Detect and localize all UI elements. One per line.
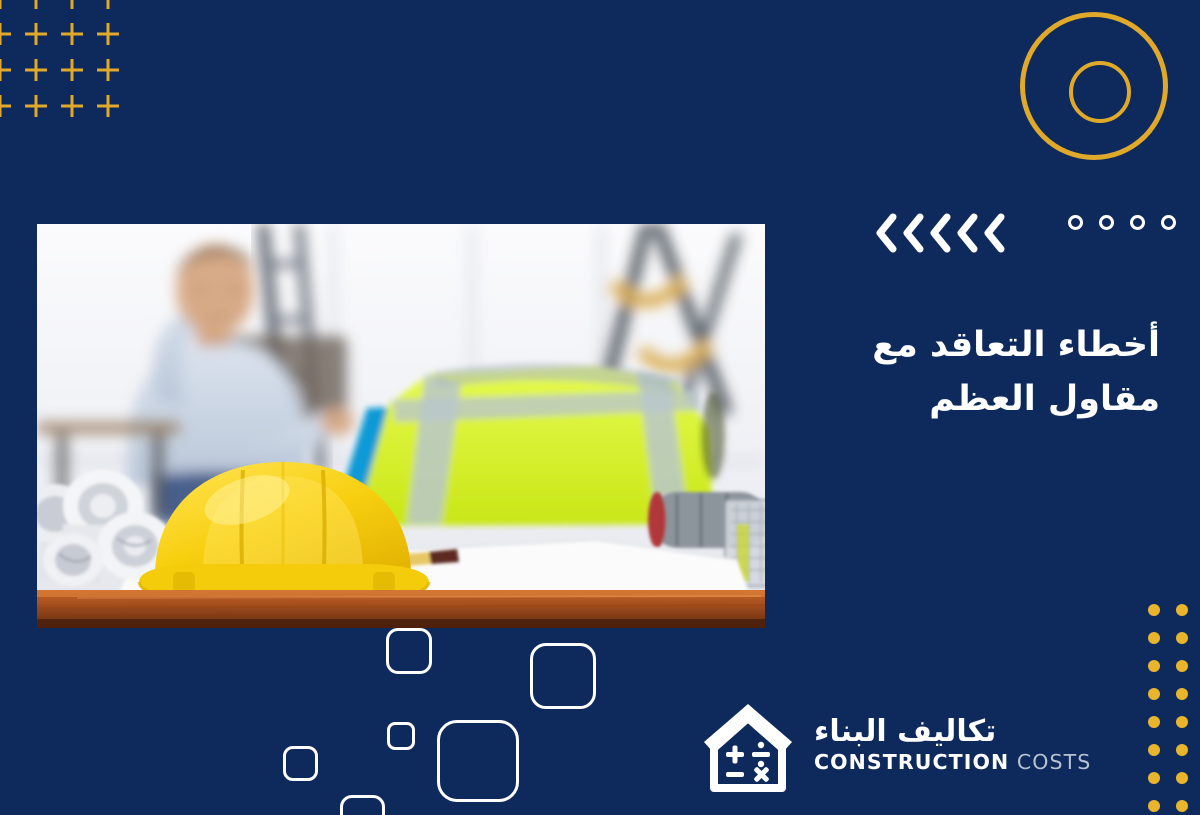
dot-icon <box>1140 680 1168 708</box>
plus-pattern <box>0 0 126 124</box>
dot-icon <box>1140 764 1168 792</box>
dot-icon <box>1196 596 1200 624</box>
plus-icon <box>18 52 54 88</box>
page-title-line-1: أخطاء التعاقد مع <box>760 318 1160 372</box>
dot-icon <box>1140 792 1168 815</box>
chevron-left-icon <box>955 212 979 254</box>
dot-icon <box>1196 624 1200 652</box>
dot-icon <box>1196 736 1200 764</box>
dot-icon <box>1168 624 1196 652</box>
chevron-left-icon <box>901 212 925 254</box>
rounded-square-decoration <box>340 795 385 815</box>
chevron-left-group <box>874 212 1006 254</box>
page-title-line-2: مقاول العظم <box>760 372 1160 426</box>
circle-outline-icon <box>1099 215 1114 230</box>
construction-contractor-photo <box>37 224 765 628</box>
plus-icon <box>0 0 18 16</box>
logo-english-secondary: COSTS <box>1009 750 1091 774</box>
chevron-left-icon <box>928 212 952 254</box>
plus-icon <box>54 52 90 88</box>
banner-root: أخطاء التعاقد مع مقاول العظم <box>0 0 1200 815</box>
plus-icon <box>0 52 18 88</box>
dot-icon <box>1140 624 1168 652</box>
dot-icon <box>1196 792 1200 815</box>
dot-icon <box>1196 708 1200 736</box>
inner-ring-icon <box>1069 61 1131 123</box>
logo-english-primary: CONSTRUCTION <box>814 750 1009 774</box>
dot-icon <box>1140 652 1168 680</box>
plus-icon <box>90 16 126 52</box>
dot-icon <box>1140 736 1168 764</box>
rounded-square-decoration <box>387 722 415 750</box>
chevron-left-icon <box>982 212 1006 254</box>
photo-illustration <box>37 224 765 628</box>
small-circle-row <box>1068 215 1176 230</box>
dot-icon <box>1168 764 1196 792</box>
dot-icon <box>1196 652 1200 680</box>
plus-icon <box>90 52 126 88</box>
logo-text-block: تكاليف البناء CONSTRUCTION COSTS <box>814 715 1091 778</box>
rounded-square-decoration <box>386 628 432 674</box>
construction-costs-logo: تكاليف البناء CONSTRUCTION COSTS <box>700 696 1140 796</box>
plus-icon <box>54 0 90 16</box>
circle-outline-icon <box>1130 215 1145 230</box>
rounded-square-decoration <box>437 720 519 802</box>
dot-icon <box>1140 596 1168 624</box>
concentric-circles-ornament <box>1020 12 1180 172</box>
plus-icon <box>18 0 54 16</box>
rounded-square-decoration <box>283 746 318 781</box>
chevron-left-icon <box>874 212 898 254</box>
logo-arabic-name: تكاليف البناء <box>814 715 996 748</box>
plus-icon <box>54 16 90 52</box>
logo-english-name: CONSTRUCTION COSTS <box>814 750 1091 774</box>
dot-icon <box>1168 708 1196 736</box>
plus-icon <box>0 88 18 124</box>
plus-icon <box>54 88 90 124</box>
dot-icon <box>1168 652 1196 680</box>
dot-icon <box>1168 736 1196 764</box>
house-calculator-icon <box>700 698 796 794</box>
rounded-square-decoration <box>530 643 596 709</box>
dot-icon <box>1168 680 1196 708</box>
circle-outline-icon <box>1161 215 1176 230</box>
plus-icon <box>90 88 126 124</box>
dot-icon <box>1140 708 1168 736</box>
plus-icon <box>0 16 18 52</box>
plus-icon <box>18 16 54 52</box>
plus-icon <box>90 0 126 16</box>
plus-icon <box>18 88 54 124</box>
page-title: أخطاء التعاقد مع مقاول العظم <box>760 318 1160 427</box>
dot-pattern <box>1140 596 1200 815</box>
dot-icon <box>1168 596 1196 624</box>
dot-icon <box>1168 792 1196 815</box>
dot-icon <box>1196 764 1200 792</box>
circle-outline-icon <box>1068 215 1083 230</box>
dot-icon <box>1196 680 1200 708</box>
